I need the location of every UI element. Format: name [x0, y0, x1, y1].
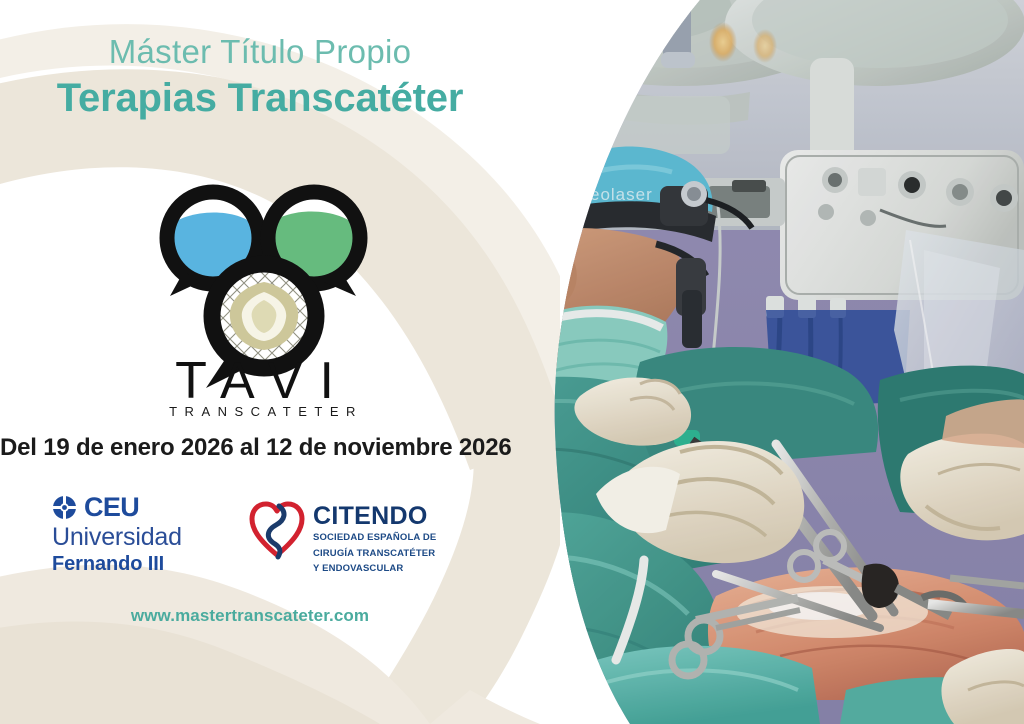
- course-dates: Del 19 de enero 2026 al 12 de noviembre …: [0, 434, 500, 462]
- course-kicker: Máster Título Propio: [0, 34, 520, 71]
- left-content-column: Máster Título Propio Terapias Transcatét…: [0, 0, 560, 724]
- title-block: Máster Título Propio Terapias Transcatét…: [0, 34, 520, 121]
- partner-logos: CEU Universidad Fernando III CITENDO SOC…: [44, 492, 474, 587]
- tavi-tagline: TRANSCATETER: [169, 404, 363, 419]
- citendo-sub-line-1: SOCIEDAD ESPAÑOLA DE: [313, 532, 436, 545]
- operating-room-surgery-photo: eolaser: [480, 0, 1024, 724]
- ceu-circle-cross-emblem-icon: [52, 495, 77, 520]
- ceu-acronym: CEU: [84, 494, 139, 521]
- heart-with-vessel-icon: [249, 500, 305, 560]
- citendo-sub-line-3: Y ENDOVASCULAR: [313, 563, 436, 576]
- citendo-name: CITENDO: [313, 504, 436, 529]
- ceu-universidad: Universidad: [52, 523, 237, 551]
- tavi-wordmark: TAVI: [175, 352, 351, 410]
- ceu-fernando-iii: Fernando III: [52, 553, 237, 576]
- course-headline: Terapias Transcatéter: [0, 75, 520, 121]
- citendo-sub-line-2: CIRUGÍA TRANSCATÉTER: [313, 548, 436, 561]
- website-url[interactable]: www.mastertranscateter.com: [0, 606, 500, 626]
- tavi-logo: TAVI TRANSCATETER: [118, 150, 408, 420]
- ceu-logo[interactable]: CEU Universidad Fernando III: [52, 492, 237, 576]
- citendo-logo[interactable]: CITENDO SOCIEDAD ESPAÑOLA DE CIRUGÍA TRA…: [249, 500, 436, 576]
- poster-canvas: Máster Título Propio Terapias Transcatét…: [0, 0, 1024, 724]
